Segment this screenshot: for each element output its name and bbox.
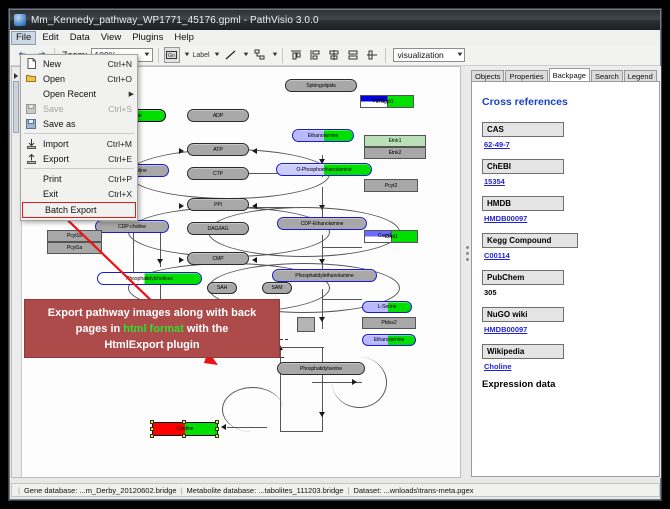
file-menu-popup[interactable]: New Ctrl+N Open Ctrl+O Open Recent ▶ Sav… (20, 54, 138, 221)
xref-name-pubchem: PubChem (482, 270, 564, 285)
annotation-line-2a: pages in (76, 323, 124, 335)
cross-references-heading: Cross references (482, 96, 659, 108)
sidebar-tabs: Objects Properties Backpage Search Legen… (471, 68, 661, 82)
blank-icon-4 (26, 204, 40, 216)
status-sep-0: | (18, 486, 20, 495)
xref-name-chebi: ChEBI (482, 159, 564, 174)
status-metabolite-db-value: ...tabolites_111203.bridge (258, 486, 343, 495)
menu-help[interactable]: Help (169, 31, 199, 45)
annotation-line-2b: with the (184, 323, 229, 335)
xref-name-wikipedia: Wikipedia (482, 344, 564, 359)
xref-name-kegg: Kegg Compound (482, 233, 578, 248)
menu-item-save-as[interactable]: Save as (21, 116, 137, 131)
menu-item-import-accel: Ctrl+M (107, 139, 134, 149)
menu-item-print-label: Print (38, 174, 108, 184)
menu-item-export[interactable]: Export Ctrl+E (21, 151, 137, 166)
menu-item-save: Save Ctrl+S (21, 101, 137, 116)
status-gene-db-label: Gene database: (24, 486, 77, 495)
title-bar: Mm_Kennedy_pathway_WP1771_45176.gpml - P… (10, 10, 660, 30)
menu-item-open[interactable]: Open Ctrl+O (21, 71, 137, 86)
xref-value-hmdb[interactable]: HMDB00097 (484, 214, 659, 223)
line-dropdown-icon[interactable]: ▼ (242, 52, 250, 58)
visualization-value: visualization (397, 50, 443, 60)
xref-value-chebi[interactable]: 15354 (484, 177, 659, 186)
xref-value-wikipedia[interactable]: Choline (484, 362, 659, 371)
menu-item-batch-export-label: Batch Export (40, 205, 132, 215)
menu-edit[interactable]: Edit (37, 31, 63, 45)
align-top-icon[interactable] (288, 47, 304, 63)
menu-data[interactable]: Data (65, 31, 95, 45)
status-dataset-value: ...wnloads\trans-meta.pgex (383, 486, 473, 495)
expression-data-heading: Expression data (482, 379, 659, 390)
submenu-arrow-icon: ▶ (129, 90, 134, 98)
right-sidebar: Objects Properties Backpage Search Legen… (465, 66, 661, 478)
interaction-anchor (297, 317, 315, 332)
datanode-dropdown-icon[interactable]: ▼ (183, 52, 191, 58)
chevron-down-icon-2: ▼ (455, 52, 463, 58)
menu-item-exit[interactable]: Exit Ctrl+X (21, 186, 137, 201)
annotation-callout: Export pathway images along with back pa… (24, 299, 280, 358)
xref-value-cas[interactable]: 62-49-7 (484, 140, 659, 149)
line-icon[interactable] (223, 47, 239, 63)
blank-icon-3 (24, 188, 38, 200)
open-folder-icon (24, 73, 38, 85)
menu-separator-2 (24, 168, 134, 169)
menu-item-print[interactable]: Print Ctrl+P (21, 171, 137, 186)
annotation-line-1: Export pathway images along with back (48, 305, 256, 321)
menu-item-new[interactable]: New Ctrl+N (21, 56, 137, 71)
backpage-panel: Cross references CAS 62-49-7 ChEBI 15354… (471, 81, 660, 477)
annotation-highlight: html format (123, 323, 184, 335)
import-icon (24, 138, 38, 150)
menu-separator (24, 133, 134, 134)
svg-text:Gn: Gn (168, 53, 175, 59)
xref-list: CAS 62-49-7 ChEBI 15354 HMDB HMDB00097 K… (472, 122, 659, 371)
blank-icon-2 (24, 173, 38, 185)
app-icon (14, 14, 26, 26)
save-icon (24, 103, 38, 115)
menu-item-open-recent-label: Open Recent (38, 89, 129, 99)
menu-item-save-label: Save (38, 104, 108, 114)
interaction-icon[interactable] (252, 47, 268, 63)
menu-item-print-accel: Ctrl+P (108, 174, 134, 184)
xref-link-nugo[interactable]: HMDB00097 (484, 325, 527, 334)
toolbar-separator-4 (385, 48, 386, 63)
datanode-icon[interactable]: Gn (164, 47, 180, 63)
menu-bar: File Edit Data View Plugins Help (10, 30, 660, 46)
align-stack-icon[interactable] (345, 47, 361, 63)
status-metabolite-db-label: Metabolite database: (187, 486, 257, 495)
xref-name-cas: CAS (482, 122, 564, 137)
align-left-icon[interactable] (307, 47, 323, 63)
xref-name-nugo: NuGO wiki (482, 307, 564, 322)
toolbar-separator-3 (282, 48, 283, 63)
toolbar-separator-2 (158, 48, 159, 63)
export-icon (24, 153, 38, 165)
xref-link-hmdb[interactable]: HMDB00097 (484, 214, 527, 223)
annotation-line-3: HtmlExport plugin (104, 337, 199, 353)
interaction-dropdown-icon[interactable]: ▼ (271, 52, 279, 58)
xref-link-wikipedia[interactable]: Choline (484, 362, 512, 371)
status-sep-1: | (181, 486, 183, 495)
xref-link-kegg[interactable]: C00114 (484, 251, 510, 260)
menu-item-export-accel: Ctrl+E (108, 154, 134, 164)
pathvisio-window: Mm_Kennedy_pathway_WP1771_45176.gpml - P… (9, 9, 661, 500)
xref-link-cas[interactable]: 62-49-7 (484, 140, 510, 149)
menu-item-save-as-label: Save as (38, 119, 132, 129)
menu-item-new-label: New (38, 59, 108, 69)
status-sep-2: | (347, 486, 349, 495)
status-bar: | Gene database: ...m_Derby_20120602.bri… (11, 483, 660, 497)
align-center-icon[interactable] (326, 47, 342, 63)
xref-name-hmdb: HMDB (482, 196, 564, 211)
menu-item-open-label: Open (38, 74, 107, 84)
menu-item-import[interactable]: Import Ctrl+M (21, 136, 137, 151)
new-file-icon (24, 58, 38, 70)
menu-item-export-label: Export (38, 154, 108, 164)
menu-item-batch-export[interactable]: Batch Export (22, 202, 136, 218)
status-gene-db-value: ...m_Derby_20120602.bridge (79, 486, 176, 495)
window-title: Mm_Kennedy_pathway_WP1771_45176.gpml - P… (31, 15, 319, 26)
menu-view[interactable]: View (96, 31, 126, 45)
menu-item-save-accel: Ctrl+S (108, 104, 134, 114)
align-width-icon[interactable] (364, 47, 380, 63)
menu-item-exit-accel: Ctrl+X (108, 189, 134, 199)
xref-link-chebi[interactable]: 15354 (484, 177, 505, 186)
xref-value-pubchem: 305 (484, 288, 659, 297)
screenshot-root: Mm_Kennedy_pathway_WP1771_45176.gpml - P… (0, 0, 670, 509)
save-as-icon (24, 118, 38, 130)
blank-icon (24, 88, 38, 100)
menu-item-open-recent[interactable]: Open Recent ▶ (21, 86, 137, 101)
menu-item-open-accel: Ctrl+O (107, 74, 134, 84)
menu-file[interactable]: File (11, 31, 36, 45)
annotation-line-2: pages in html format with the (76, 321, 229, 337)
status-dataset-label: Dataset: (353, 486, 381, 495)
menu-plugins[interactable]: Plugins (127, 31, 168, 45)
chevron-down-icon: ▼ (142, 52, 150, 58)
menu-item-new-accel: Ctrl+N (108, 59, 134, 69)
visualization-combo[interactable]: visualization ▼ (393, 48, 465, 62)
xref-value-kegg[interactable]: C00114 (484, 251, 659, 260)
xref-value-nugo[interactable]: HMDB00097 (484, 325, 659, 334)
menu-item-import-label: Import (38, 139, 107, 149)
tab-backpage[interactable]: Backpage (549, 68, 590, 82)
label-tool-label[interactable]: Label (192, 52, 209, 59)
label-dropdown-icon[interactable]: ▼ (213, 52, 221, 58)
menu-item-exit-label: Exit (38, 189, 108, 199)
